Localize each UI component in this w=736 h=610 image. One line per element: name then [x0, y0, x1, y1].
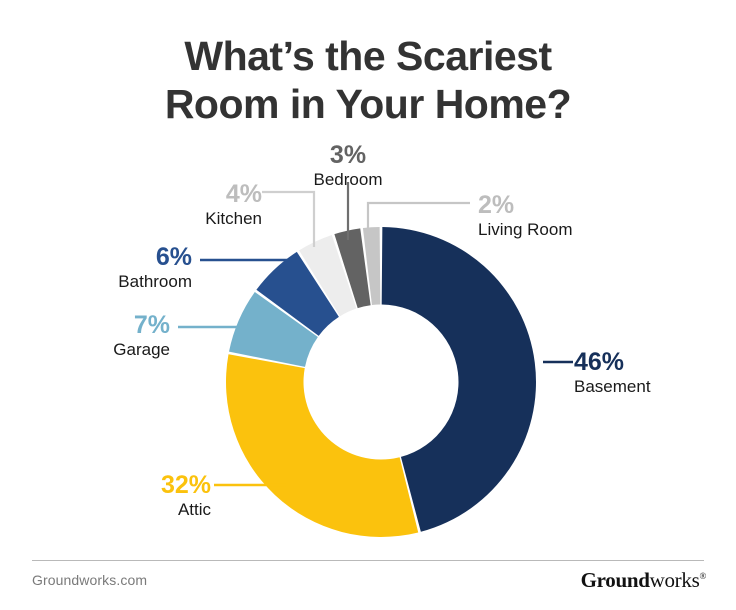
- callout-bedroom-label: Bedroom: [283, 169, 413, 191]
- callout-living-room[interactable]: 2% Living Room: [478, 192, 628, 241]
- callout-kitchen-percent: 4%: [140, 181, 262, 208]
- callout-attic[interactable]: 32% Attic: [56, 472, 211, 521]
- footer-site-url[interactable]: Groundworks.com: [32, 572, 147, 588]
- callout-attic-label: Attic: [56, 499, 211, 521]
- page-title-line-2: Room in Your Home?: [0, 80, 736, 128]
- logo-light-part: works: [650, 568, 700, 592]
- callout-basement-percent: 46%: [574, 349, 651, 376]
- callout-kitchen-label: Kitchen: [140, 208, 262, 230]
- callout-living-room-label: Living Room: [478, 219, 628, 241]
- registered-trademark-icon: ®: [699, 571, 706, 581]
- callout-bedroom[interactable]: 3% Bedroom: [283, 142, 413, 191]
- donut-slice-layer: [226, 227, 536, 537]
- infographic-canvas: What’s the Scariest Room in Your Home? 4…: [0, 0, 736, 610]
- callout-attic-percent: 32%: [56, 472, 211, 499]
- donut-chart: 46% Basement 32% Attic 7% Garage 6% Bath…: [0, 130, 736, 550]
- page-title: What’s the Scariest Room in Your Home?: [0, 32, 736, 128]
- footer-divider: [32, 560, 704, 561]
- page-title-line-1: What’s the Scariest: [0, 32, 736, 80]
- callout-bedroom-percent: 3%: [283, 142, 413, 169]
- callout-garage[interactable]: 7% Garage: [24, 312, 170, 361]
- callout-basement[interactable]: 46% Basement: [574, 349, 651, 398]
- callout-kitchen[interactable]: 4% Kitchen: [140, 181, 262, 230]
- callout-basement-label: Basement: [574, 376, 651, 398]
- callout-garage-label: Garage: [24, 339, 170, 361]
- callout-garage-percent: 7%: [24, 312, 170, 339]
- callout-living-room-percent: 2%: [478, 192, 628, 219]
- callout-bathroom-percent: 6%: [30, 244, 192, 271]
- callout-bathroom-label: Bathroom: [30, 271, 192, 293]
- donut-slice-attic[interactable]: [226, 354, 418, 537]
- groundworks-logo: Groundworks®: [581, 568, 706, 593]
- callout-bathroom[interactable]: 6% Bathroom: [30, 244, 192, 293]
- leader-line-kitchen: [262, 192, 314, 247]
- logo-bold-part: Ground: [581, 568, 650, 592]
